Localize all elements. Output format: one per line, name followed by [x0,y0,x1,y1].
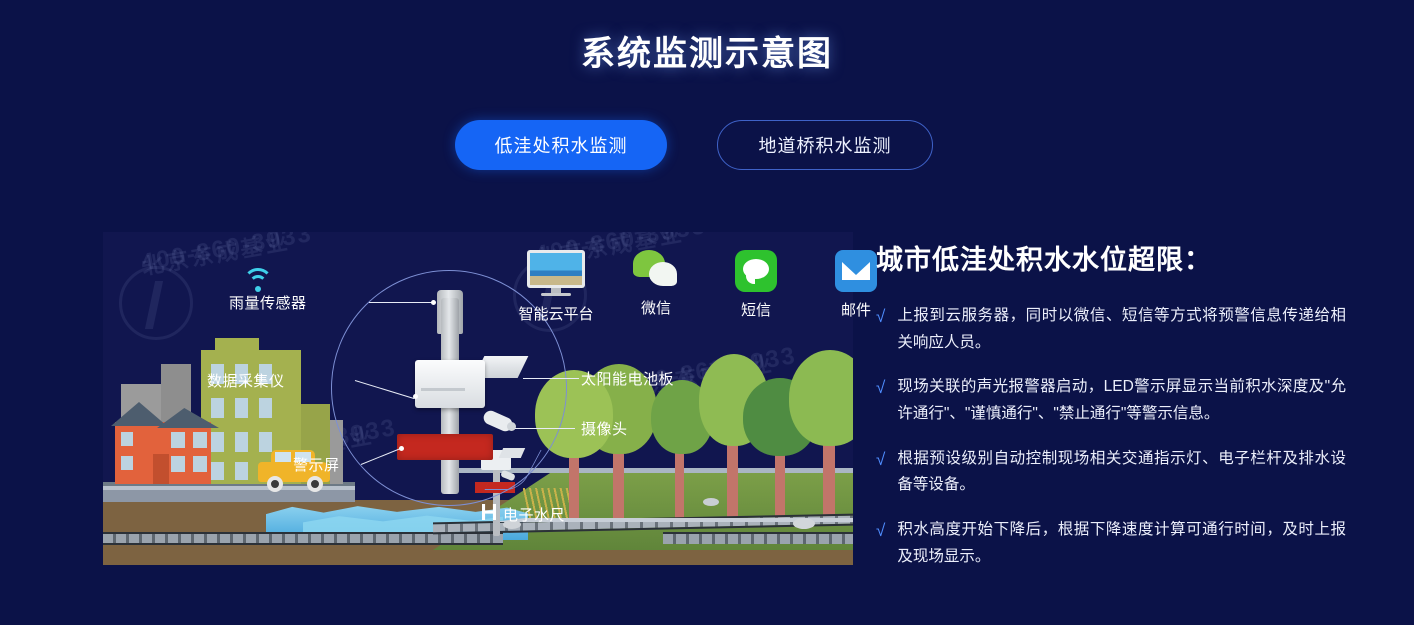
bullet-item: √ 上报到云服务器，同时以微信、短信等方式将预警信息传递给相关响应人员。 [876,303,1346,356]
label-solar-panel: 太阳能电池板 [581,368,674,389]
window [235,432,248,452]
window [171,432,185,448]
channel-label: 微信 [641,297,671,318]
tree-trunk [613,446,624,524]
car-wheel [267,476,283,492]
mail-icon [835,250,877,292]
window [171,456,185,472]
rock [793,518,815,529]
label-camera: 摄像头 [581,418,628,439]
tree-trunk [569,448,579,524]
window [235,462,248,480]
rock [703,498,719,506]
leader-line [523,378,579,379]
description-panel: 城市低洼处积水水位超限： √ 上报到云服务器，同时以微信、短信等方式将预警信息传… [876,238,1346,588]
car-wheel [307,476,323,492]
window [193,432,207,448]
house-door [153,454,169,484]
window [211,432,224,452]
window [235,398,248,418]
tab-bar: 低洼处积水监测 地道桥积水监测 [455,120,933,170]
collector-vent [421,388,465,391]
building-rooftop [215,338,259,352]
leader-line [369,302,433,303]
window [121,432,133,446]
watermark-logo-icon [119,266,193,340]
bullet-text: 上报到云服务器，同时以微信、短信等方式将预警信息传递给相关响应人员。 [897,303,1346,356]
check-icon: √ [876,374,885,427]
tree-trunk [727,438,738,522]
tree-trunk [823,438,835,524]
page-title: 系统监测示意图 [0,26,1414,75]
system-monitoring-diagram-page: 系统监测示意图 低洼处积水监测 地道桥积水监测 北京东成基业 400-860-3… [0,0,1414,625]
tab-underpass-bridge-waterlogging[interactable]: 地道桥积水监测 [717,120,933,170]
leader-dot [399,446,404,451]
window [211,398,224,418]
notification-channel-row: 智能云平台 微信 短信 邮件 [520,250,892,324]
road-surface [103,490,355,502]
label-data-collector: 数据采集仪 [207,370,285,391]
car-window [275,452,291,462]
channel-wechat[interactable]: 微信 [620,250,692,324]
leader-line [515,428,575,429]
underground-pipe [663,532,853,544]
panel-heading: 城市低洼处积水水位超限： [876,238,1346,277]
window [121,456,133,470]
window [259,398,272,418]
bullet-text: 积水高度开始下降后，根据下降速度计算可通行时间，及时上报及现场显示。 [897,517,1346,570]
window [259,432,272,452]
check-icon: √ [876,446,885,499]
bullet-item: √ 根据预设级别自动控制现场相关交通指示灯、电子栏杆及排水设备等设备。 [876,446,1346,499]
monitor-icon [527,250,585,296]
tree-trunk [675,444,684,522]
wifi-icon [243,268,277,294]
tab-lowland-waterlogging[interactable]: 低洼处积水监测 [455,120,667,170]
bullet-item: √ 现场关联的声光报警器启动，LED警示屏显示当前积水深度及"允许通行"、"谨慎… [876,374,1346,427]
channel-label: 短信 [741,299,771,320]
tree-crown [789,350,853,446]
tree-trunk [775,446,785,522]
leader-dot [431,300,436,305]
window [193,456,207,472]
sms-icon [735,250,777,292]
label-water-gauge: 电子水尺 [503,504,565,525]
channel-label: 智能云平台 [519,303,594,324]
channel-label: 邮件 [841,299,871,320]
label-rain-sensor: 雨量传感器 [229,292,307,313]
check-icon: √ [876,517,885,570]
bullet-text: 现场关联的声光报警器启动，LED警示屏显示当前积水深度及"允许通行"、"谨慎通行… [897,374,1346,427]
bullet-item: √ 积水高度开始下降后，根据下降速度计算可通行时间，及时上报及现场显示。 [876,517,1346,570]
wechat-icon [633,250,679,290]
camera-lens [507,422,516,431]
label-warning-screen: 警示屏 [293,454,340,475]
check-icon: √ [876,303,885,356]
bullet-text: 根据预设级别自动控制现场相关交通指示灯、电子栏杆及排水设备等设备。 [897,446,1346,499]
leader-dot [413,394,418,399]
led-warning-screen-large [397,434,493,460]
channel-sms[interactable]: 短信 [720,250,792,324]
window [211,462,224,480]
data-collector-large [415,360,485,408]
channel-cloud-platform[interactable]: 智能云平台 [520,250,592,324]
